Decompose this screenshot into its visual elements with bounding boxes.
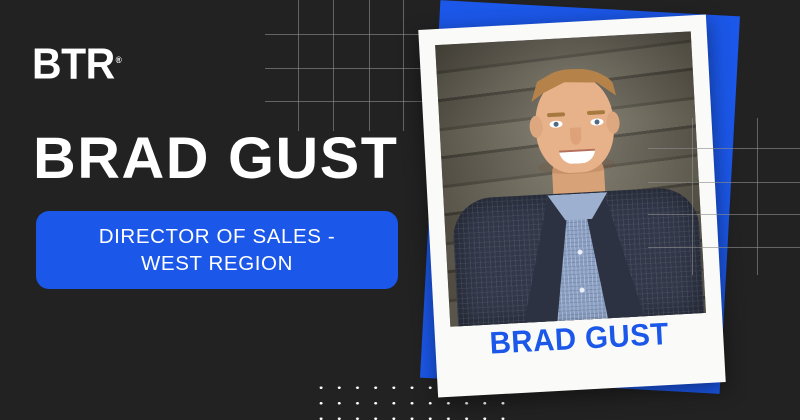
- headshot-photo: [435, 31, 706, 326]
- grid-horizontal-line: [265, 34, 432, 35]
- person-name-heading: BRAD GUST: [33, 128, 398, 190]
- btr-logo: BTR®: [32, 38, 122, 87]
- job-title-text: DIRECTOR OF SALES -WEST REGION: [99, 223, 336, 277]
- job-title-line-2: WEST REGION: [141, 252, 293, 275]
- grid-vertical-line: [298, 0, 299, 131]
- grid-horizontal-line: [265, 68, 432, 69]
- job-title-line-1: DIRECTOR OF SALES -: [99, 225, 336, 248]
- job-title-badge: DIRECTOR OF SALES -WEST REGION: [36, 211, 398, 289]
- grid-vertical-line: [403, 0, 404, 131]
- polaroid-photo-card: BRAD GUST: [418, 14, 725, 397]
- btr-logo-text: BTR: [32, 40, 115, 89]
- grid-vertical-line: [333, 0, 334, 131]
- grid-horizontal-line: [265, 101, 432, 102]
- profile-card-graphic: BTR® BRAD GUST DIRECTOR OF SALES -WEST R…: [0, 0, 800, 420]
- registered-trademark-icon: ®: [116, 55, 122, 65]
- grid-vertical-line: [757, 118, 758, 275]
- grid-vertical-line: [369, 0, 370, 131]
